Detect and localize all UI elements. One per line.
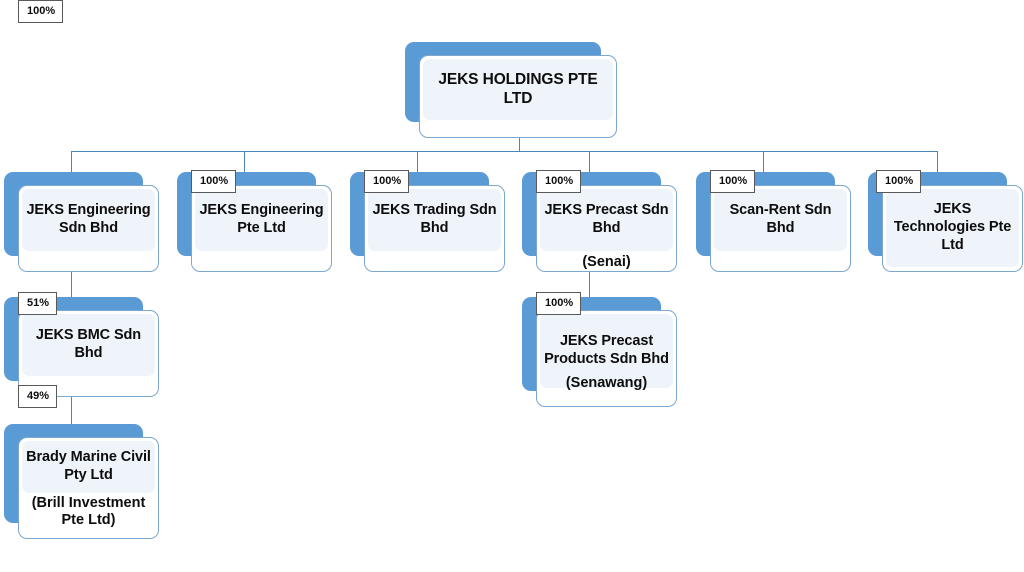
ownership-badge: 100% <box>710 170 755 193</box>
node-jeks-precast-sdn-bhd[interactable]: JEKS Precast Sdn Bhd (Senai) 100% <box>522 172 677 272</box>
ownership-badge: 100% <box>364 170 409 193</box>
node-subtitle: (Senai) <box>540 254 673 271</box>
connector-drop-1 <box>71 151 72 173</box>
node-panel: JEKS Technologies Pte Ltd <box>886 189 1019 267</box>
node-panel: Brady Marine Civil Pty Ltd <box>22 441 155 493</box>
node-jeks-holdings[interactable]: JEKS HOLDINGS PTE LTD <box>405 42 617 138</box>
node-title: Brady Marine Civil Pty Ltd <box>26 449 151 484</box>
connector-precast-to-products <box>589 272 590 298</box>
connector-bus <box>71 151 938 152</box>
ownership-badge: 100% <box>191 170 236 193</box>
node-title: JEKS BMC Sdn Bhd <box>26 327 151 362</box>
node-jeks-trading-sdn-bhd[interactable]: JEKS Trading Sdn Bhd 100% <box>350 172 505 272</box>
connector-drop-2 <box>244 151 245 173</box>
ownership-badge: 100% <box>18 0 63 23</box>
node-jeks-precast-products-sdn-bhd[interactable]: JEKS Precast Products Sdn Bhd (Senawang)… <box>522 297 677 407</box>
connector-drop-4 <box>589 151 590 173</box>
connector-bmc-to-brady <box>71 397 72 425</box>
node-panel: JEKS HOLDINGS PTE LTD <box>423 59 613 120</box>
node-title: JEKS Engineering Pte Ltd <box>199 202 324 237</box>
node-jeks-bmc-sdn-bhd[interactable]: JEKS BMC Sdn Bhd 51% 49% <box>4 297 159 397</box>
node-panel: JEKS Trading Sdn Bhd <box>368 189 501 251</box>
node-subtitle: (Senawang) <box>540 375 673 392</box>
node-jeks-engineering-pte-ltd[interactable]: JEKS Engineering Pte Ltd 100% <box>177 172 332 272</box>
ownership-badge: 100% <box>876 170 921 193</box>
ownership-badge: 100% <box>536 292 581 315</box>
node-subtitle: (Brill Investment Pte Ltd) <box>22 495 155 530</box>
ownership-badge-out: 49% <box>18 385 57 408</box>
node-panel: JEKS BMC Sdn Bhd <box>22 314 155 376</box>
node-panel: Scan-Rent Sdn Bhd <box>714 189 847 251</box>
node-brady-marine-civil-pty-ltd[interactable]: Brady Marine Civil Pty Ltd (Brill Invest… <box>4 424 159 539</box>
node-title: JEKS Trading Sdn Bhd <box>372 202 497 237</box>
connector-drop-6 <box>937 151 938 173</box>
connector-eng-to-bmc <box>71 272 72 298</box>
node-panel: JEKS Precast Sdn Bhd <box>540 189 673 251</box>
connector-drop-5 <box>763 151 764 173</box>
org-chart-canvas: JEKS HOLDINGS PTE LTD JEKS Engineering S… <box>0 0 1024 572</box>
node-title: Scan-Rent Sdn Bhd <box>718 202 843 237</box>
node-panel: JEKS Engineering Pte Ltd <box>195 189 328 251</box>
node-jeks-technologies-pte-ltd[interactable]: JEKS Technologies Pte Ltd 100% <box>868 172 1023 272</box>
node-title: JEKS Precast Products Sdn Bhd <box>544 333 669 368</box>
ownership-badge-in: 51% <box>18 292 57 315</box>
ownership-badge: 100% <box>536 170 581 193</box>
node-title: JEKS Precast Sdn Bhd <box>544 202 669 237</box>
node-panel: JEKS Engineering Sdn Bhd <box>22 189 155 251</box>
connector-root-stem <box>519 138 520 152</box>
node-title: JEKS HOLDINGS PTE LTD <box>427 71 609 109</box>
node-jeks-engineering-sdn-bhd[interactable]: JEKS Engineering Sdn Bhd 100% <box>4 172 159 272</box>
connector-drop-3 <box>417 151 418 173</box>
node-title: JEKS Engineering Sdn Bhd <box>26 202 151 237</box>
node-scan-rent-sdn-bhd[interactable]: Scan-Rent Sdn Bhd 100% <box>696 172 851 272</box>
node-title: JEKS Technologies Pte Ltd <box>890 201 1015 254</box>
